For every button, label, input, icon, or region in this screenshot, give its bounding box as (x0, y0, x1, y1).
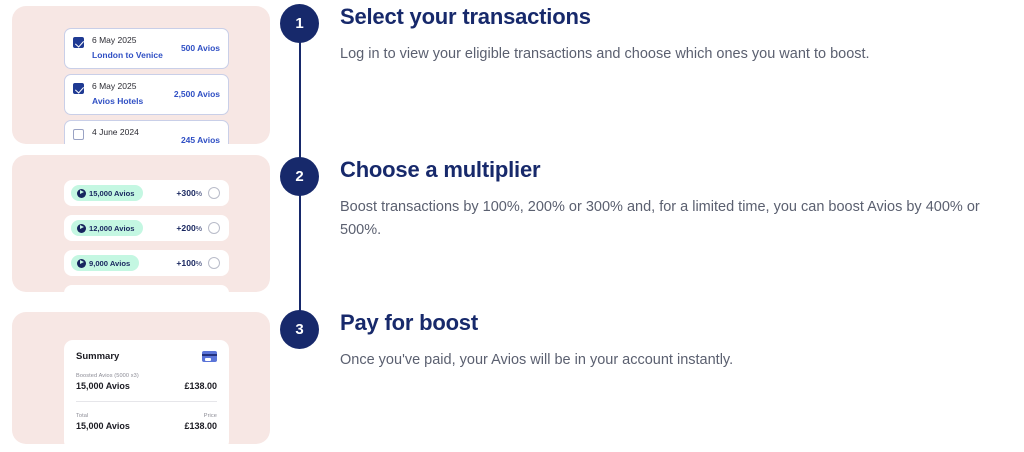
multiplier-list: 15,000 Avios +300% 12,000 Avios +200% 9,… (64, 180, 229, 292)
avios-logo-icon (77, 189, 86, 198)
transactions-panel: 6 May 2025 London to Venice 500 Avios 6 … (12, 6, 270, 144)
step-description: Once you've paid, your Avios will be in … (340, 349, 1024, 371)
multiplier-row[interactable] (64, 285, 229, 292)
step-item-3: 3 Pay for boost Once you've paid, your A… (280, 310, 1024, 372)
step-title: Select your transactions (340, 4, 1024, 29)
transaction-date: 6 May 2025 (92, 35, 136, 45)
multiplier-row[interactable]: 9,000 Avios +100% (64, 250, 229, 276)
summary-total-line: Total Price 15,000 Avios £138.00 (76, 413, 217, 431)
summary-header: Summary (76, 351, 217, 362)
radio-button[interactable] (208, 222, 220, 234)
transaction-row[interactable]: 4 June 2024 245 Avios (64, 120, 229, 144)
boosted-avios: 15,000 Avios (76, 381, 130, 391)
checkbox-checked-icon[interactable] (73, 83, 84, 94)
avios-logo-icon (77, 259, 86, 268)
transaction-avios: 245 Avios (181, 135, 220, 144)
transaction-avios: 2,500 Avios (174, 89, 220, 99)
steps-timeline: 1 Select your transactions Log in to vie… (280, 0, 1024, 452)
radio-button[interactable] (208, 187, 220, 199)
multiplier-avios: 12,000 Avios (89, 224, 134, 233)
multipliers-panel: 15,000 Avios +300% 12,000 Avios +200% 9,… (12, 155, 270, 292)
avios-pill: 9,000 Avios (71, 255, 139, 271)
summary-divider (76, 401, 217, 402)
step-title: Choose a multiplier (340, 157, 1024, 182)
total-price: £138.00 (184, 421, 217, 431)
transaction-date: 6 May 2025 (92, 81, 136, 91)
checkbox-checked-icon[interactable] (73, 37, 84, 48)
multiplier-avios: 15,000 Avios (89, 189, 134, 198)
summary-panel: Summary Boosted Avios (5000 x3) 15,000 A… (12, 312, 270, 444)
step-item-2: 2 Choose a multiplier Boost transactions… (280, 157, 1024, 241)
transaction-date: 4 June 2024 (92, 127, 139, 137)
credit-card-icon (202, 351, 217, 362)
transaction-row[interactable]: 6 May 2025 London to Venice 500 Avios (64, 28, 229, 69)
boosted-label: Boosted Avios (5000 x3) (76, 373, 217, 379)
transaction-merchant: London to Venice (92, 50, 163, 60)
step-number-badge: 3 (280, 310, 319, 349)
transaction-avios: 500 Avios (181, 43, 220, 53)
transaction-row[interactable]: 6 May 2025 Avios Hotels 2,500 Avios (64, 74, 229, 115)
multiplier-row[interactable]: 12,000 Avios +200% (64, 215, 229, 241)
multiplier-percent: +300% (176, 188, 202, 198)
summary-boosted-line: Boosted Avios (5000 x3) 15,000 Avios £13… (76, 373, 217, 391)
checkbox-unchecked-icon[interactable] (73, 129, 84, 140)
multiplier-avios: 9,000 Avios (89, 259, 130, 268)
multiplier-row[interactable]: 15,000 Avios +300% (64, 180, 229, 206)
total-avios: 15,000 Avios (76, 421, 130, 431)
step-title: Pay for boost (340, 310, 1024, 335)
step-number-badge: 1 (280, 4, 319, 43)
transaction-merchant: Avios Hotels (92, 96, 143, 106)
step-description: Log in to view your eligible transaction… (340, 43, 1024, 65)
radio-button[interactable] (208, 257, 220, 269)
total-label: Total (76, 413, 88, 419)
summary-card: Summary Boosted Avios (5000 x3) 15,000 A… (64, 340, 229, 444)
price-label: Price (204, 413, 217, 419)
avios-logo-icon (77, 224, 86, 233)
step-number-badge: 2 (280, 157, 319, 196)
boosted-price: £138.00 (184, 381, 217, 391)
summary-title: Summary (76, 351, 119, 362)
transaction-list: 6 May 2025 London to Venice 500 Avios 6 … (64, 28, 229, 144)
avios-pill: 12,000 Avios (71, 220, 143, 236)
step-description: Boost transactions by 100%, 200% or 300%… (340, 196, 1024, 241)
multiplier-percent: +100% (176, 258, 202, 268)
multiplier-percent: +200% (176, 223, 202, 233)
page-root: 6 May 2025 London to Venice 500 Avios 6 … (0, 0, 1024, 452)
avios-pill: 15,000 Avios (71, 185, 143, 201)
step-item-1: 1 Select your transactions Log in to vie… (280, 4, 1024, 66)
